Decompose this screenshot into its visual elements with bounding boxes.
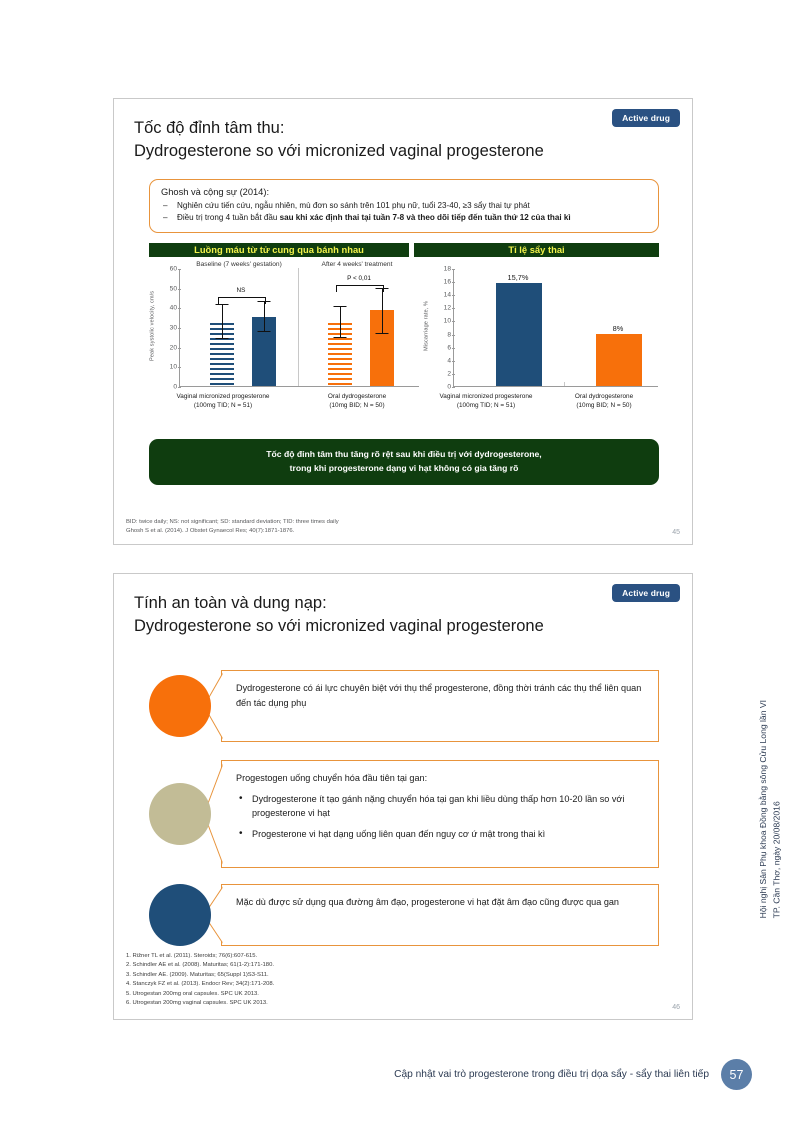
chart-right-group-divider — [564, 382, 565, 386]
chart-right-datalabel-1: 8% — [595, 324, 641, 333]
y-tick-label: 10 — [170, 364, 177, 371]
chart-left-xcategory-1: Oral dydrogesterone (10mg BID; N = 50) — [297, 393, 417, 410]
chart-left-bar — [210, 323, 234, 386]
reference-item: 6. Utrogestan 200mg vaginal capsules. SP… — [126, 999, 274, 1009]
error-bar — [222, 305, 223, 339]
slide2-number: 46 — [672, 1004, 680, 1011]
chart-right-xcat0-line2: (100mg TID; N = 51) — [427, 402, 545, 411]
slide1-footnotes: BID: twice daily; NS: not significant; S… — [126, 518, 339, 536]
slide1-title-line2: Dydrogesterone so với micronized vaginal… — [134, 140, 597, 163]
chart-peak-systolic-velocity: Peak systolic velocity, cm/s 01020304050… — [147, 261, 423, 429]
chart-left-group-title-baseline: Baseline (7 weeks' gestation) — [181, 261, 297, 268]
conclusion-line-1: Tốc độ đỉnh tâm thu tăng rõ rệt sau khi … — [167, 448, 641, 462]
callout-2-panel: Mặc dù được sử dụng qua đường âm đạo, pr… — [221, 884, 659, 946]
study-bullet-2-plain: Điều trị trong 4 tuần bắt đầu — [177, 213, 280, 222]
callout-hepatic-metabolism: Progestogen uống chuyển hóa đầu tiên tại… — [149, 760, 659, 868]
chart-left-xcat1-line2: (10mg BID; N = 50) — [297, 402, 417, 411]
callout-1-bullet-0: Dydrogesterone ít tạo gánh nặng chuyển h… — [236, 792, 646, 821]
chart-left-xcat0-line1: Vaginal micronized progesterone — [163, 393, 283, 402]
slide1-number: 45 — [672, 529, 680, 536]
error-bar-cap — [334, 306, 347, 307]
active-drug-badge: Active drug — [612, 109, 680, 127]
chart-right-xcat1-line1: Oral dydrogesterone — [545, 393, 663, 402]
reference-item: 3. Schindler AE. (2009). Maturitas; 65(S… — [126, 971, 274, 981]
callout-vaginal-route: Mặc dù được sử dụng qua đường âm đạo, pr… — [149, 884, 659, 946]
callout-2-circle — [149, 884, 211, 946]
page-number-badge: 57 — [721, 1059, 752, 1090]
reference-item: 1. Rižner TL et al. (2011). Steroids; 76… — [126, 952, 274, 962]
page-footer: Cập nhật vai trò progesterone trong điều… — [0, 1059, 794, 1090]
y-tick-label: 50 — [170, 285, 177, 292]
chart-right-xcat0-line1: Vaginal micronized progesterone — [427, 393, 545, 402]
study-bullet-2: Điều trị trong 4 tuần bắt đầu sau khi xá… — [161, 212, 647, 224]
chart-left-xcategory-0: Vaginal micronized progesterone (100mg T… — [163, 393, 283, 410]
conference-location-date: TP. Cần Thơ, ngày 20/08/2016 — [770, 700, 783, 918]
significance-bracket — [218, 297, 266, 305]
conclusion-banner: Tốc độ đỉnh tâm thu tăng rõ rệt sau khi … — [149, 439, 659, 485]
slide2-title-line1: Tính an toàn và dung nạp: — [134, 592, 597, 615]
reference-item: 2. Schindler AE et al. (2008). Maturitas… — [126, 961, 274, 971]
footer-title: Cập nhật vai trò progesterone trong điều… — [394, 1069, 709, 1080]
error-bar — [382, 289, 383, 335]
callout-affinity: Dydrogesterone có ái lực chuyên biệt với… — [149, 670, 659, 742]
callout-1-bullet-list: Dydrogesterone ít tạo gánh nặng chuyển h… — [236, 792, 646, 842]
chart-right-bar — [596, 334, 642, 386]
chart-left-significance-p: P < 0,01 — [335, 275, 383, 282]
y-tick-label: 60 — [170, 266, 177, 273]
chart-left-bar — [370, 310, 394, 386]
conclusion-line-2: trong khi progesterone dạng vi hạt không… — [167, 462, 641, 476]
slide-peak-systolic-velocity: Active drug Tốc độ đỉnh tâm thu: Dydroge… — [113, 98, 693, 545]
callout-0-text: Dydrogesterone có ái lực chuyên biệt với… — [236, 681, 646, 710]
page-title: Tính an toàn và dung nạp: Dydrogesterone… — [134, 592, 597, 639]
y-tick-label: 2 — [447, 370, 451, 377]
study-bullet-2-bold: sau khi xác định thai tại tuần 7-8 và th… — [280, 213, 571, 222]
chart-left-yaxis-ticks: 0102030405060 — [155, 261, 177, 391]
chart-right-datalabel-0: 15,7% — [495, 273, 541, 282]
slide-safety-tolerability: Active drug Tính an toàn và dung nạp: Dy… — [113, 573, 693, 1020]
y-tick-label: 4 — [447, 357, 451, 364]
reference-item: 5. Utrogestan 200mg oral capsules. SPC U… — [126, 990, 274, 1000]
chart-right-xcat1-line2: (10mg BID; N = 50) — [545, 402, 663, 411]
y-tick-label: 14 — [444, 292, 451, 299]
callout-1-panel: Progestogen uống chuyển hóa đầu tiên tại… — [221, 760, 659, 868]
y-tick-label: 30 — [170, 325, 177, 332]
slide1-footnote-abbrev: BID: twice daily; NS: not significant; S… — [126, 518, 339, 527]
error-bar — [264, 302, 265, 332]
study-bullet-1: Nghiên cứu tiến cứu, ngẫu nhiên, mù đơn … — [161, 200, 647, 212]
conference-name: Hội nghị Sản Phụ khoa Đồng bằng sông Cửu… — [757, 700, 770, 918]
page-title: Tốc độ đỉnh tâm thu: Dydrogesterone so v… — [134, 117, 597, 164]
callout-0-circle — [149, 675, 211, 737]
y-tick-mark — [452, 387, 455, 388]
callout-1-circle — [149, 783, 211, 845]
y-tick-label: 6 — [447, 344, 451, 351]
error-bar — [340, 307, 341, 339]
slide1-footnote-citation: Ghosh S et al. (2014). J Obstet Gynaecol… — [126, 527, 339, 536]
callout-1-bullet-1: Progesterone vi hạt dạng uống liên quan … — [236, 827, 646, 842]
active-drug-badge: Active drug — [612, 584, 680, 602]
chart-left-group-divider — [298, 268, 299, 386]
study-header: Ghosh và cộng sự (2014): — [161, 187, 647, 197]
chart-right-xcategory-1: Oral dydrogesterone (10mg BID; N = 50) — [545, 393, 663, 410]
y-tick-label: 0 — [447, 384, 451, 391]
chart-left-significance-ns: NS — [217, 287, 265, 294]
slide1-title-line1: Tốc độ đỉnh tâm thu: — [134, 117, 597, 140]
chart-left-bar — [328, 323, 352, 386]
callout-0-panel: Dydrogesterone có ái lực chuyên biệt với… — [221, 670, 659, 742]
y-tick-label: 40 — [170, 305, 177, 312]
chart-miscarriage-rate: Miscarriage rate, % 024681012141618 Vagi… — [421, 261, 664, 429]
callout-1-text: Progestogen uống chuyển hóa đầu tiên tại… — [236, 771, 646, 786]
slide2-references: 1. Rižner TL et al. (2011). Steroids; 76… — [126, 952, 274, 1009]
chart-left-group-title-after: After 4 weeks' treatment — [299, 261, 415, 268]
chart-left-plot-area — [179, 269, 419, 387]
chart-right-bar — [496, 283, 542, 386]
y-tick-mark — [178, 387, 181, 388]
conference-side-text: Hội nghị Sản Phụ khoa Đồng bằng sông Cửu… — [757, 700, 784, 918]
chart-left-bar — [252, 317, 276, 386]
y-tick-label: 10 — [444, 318, 451, 325]
y-tick-label: 12 — [444, 305, 451, 312]
error-bar-cap — [258, 331, 271, 332]
y-tick-label: 18 — [444, 266, 451, 273]
y-tick-label: 16 — [444, 279, 451, 286]
y-tick-label: 20 — [170, 344, 177, 351]
y-tick-label: 8 — [447, 331, 451, 338]
significance-bracket — [336, 285, 384, 293]
chart-left-xcat1-line1: Oral dydrogesterone — [297, 393, 417, 402]
y-tick-label: 0 — [173, 384, 177, 391]
section-bar-uterine-blood-flow: Luồng máu từ tử cung qua bánh nhau — [149, 243, 409, 257]
reference-item: 4. Stanczyk FZ et al. (2013). Endocr Rev… — [126, 980, 274, 990]
chart-right-yaxis-ticks: 024681012141618 — [429, 261, 451, 391]
slide2-title-line2: Dydrogesterone so với micronized vaginal… — [134, 615, 597, 638]
callout-2-text: Mặc dù được sử dụng qua đường âm đạo, pr… — [236, 895, 646, 910]
error-bar-cap — [334, 337, 347, 338]
chart-left-xcat0-line2: (100mg TID; N = 51) — [163, 402, 283, 411]
error-bar-cap — [216, 338, 229, 339]
chart-right-xcategory-0: Vaginal micronized progesterone (100mg T… — [427, 393, 545, 410]
study-description-box: Ghosh và cộng sự (2014): Nghiên cứu tiến… — [149, 179, 659, 233]
error-bar-cap — [376, 333, 389, 334]
study-bullet-list: Nghiên cứu tiến cứu, ngẫu nhiên, mù đơn … — [161, 200, 647, 224]
section-bar-miscarriage-rate: Tỉ lệ sẩy thai — [414, 243, 659, 257]
